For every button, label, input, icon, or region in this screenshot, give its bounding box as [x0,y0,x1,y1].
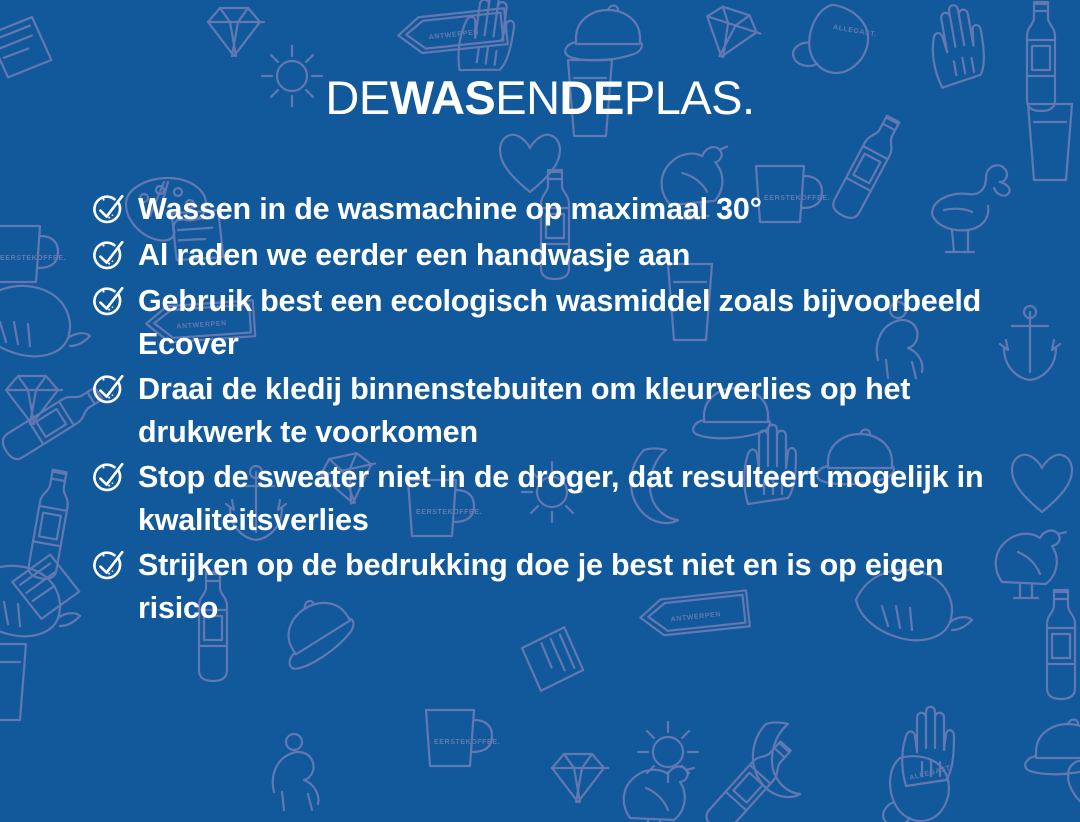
check-circle-icon [88,283,128,327]
list-item-label: Wassen in de wasmachine op maximaal 30° [138,188,762,231]
poster-canvas: EERSTEKOFFEE. [0,0,1080,822]
list-item: Stop de sweater niet in de droger, dat r… [88,456,1028,542]
check-circle-icon [88,371,128,415]
page-title: DEWASENDEPLAS. [0,74,1080,121]
check-circle-icon [88,459,128,503]
check-circle-icon [88,237,128,281]
list-item-label: Draai de kledij binnenstebuiten om kleur… [138,368,1013,454]
title-part-plas: PLAS. [624,71,755,124]
list-item: Wassen in de wasmachine op maximaal 30° [88,188,1028,232]
list-item: Strijken op de bedrukking doe je best ni… [88,544,1028,630]
list-item-label: Al raden we eerder een handwasje aan [138,234,690,277]
list-item: Draai de kledij binnenstebuiten om kleur… [88,368,1028,454]
list-item-label: Gebruik best een ecologisch wasmiddel zo… [138,280,1013,366]
list-item-label: Strijken op de bedrukking doe je best ni… [138,544,1013,630]
check-circle-icon [88,547,128,591]
care-instruction-list: Wassen in de wasmachine op maximaal 30° … [88,188,1028,632]
list-item-label: Stop de sweater niet in de droger, dat r… [138,456,1013,542]
title-part-de2: DE [560,71,624,124]
poster-content: DEWASENDEPLAS. Wassen in de wasmachine o… [0,0,1080,822]
title-part-de1: DE [325,71,389,124]
check-circle-icon [88,191,128,235]
list-item: Gebruik best een ecologisch wasmiddel zo… [88,280,1028,366]
title-part-was: WAS [390,71,496,124]
title-part-en: EN [495,71,559,124]
list-item: Al raden we eerder een handwasje aan [88,234,1028,278]
